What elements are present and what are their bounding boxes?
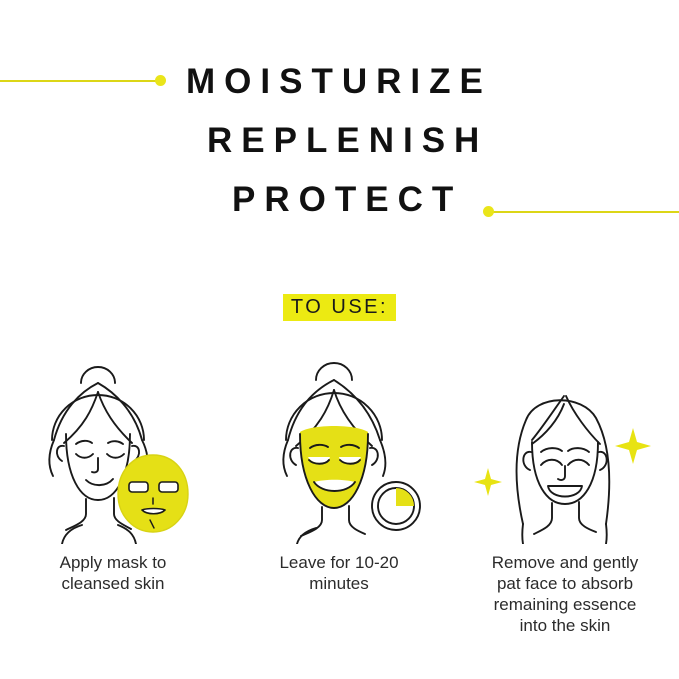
to-use-label: TO USE: [283,294,396,321]
step-1: Apply mask to cleansed skin [0,348,226,594]
woman-wearing-mask-with-timer-icon [244,348,434,544]
steps-row: Apply mask to cleansed skin [0,348,679,636]
headline-line-protect: PROTECT [232,170,679,229]
step-3: Remove and gently pat face to absorb rem… [452,348,678,636]
sparkle-left-icon [474,468,502,496]
step-3-caption: Remove and gently pat face to absorb rem… [473,552,658,636]
woman-holding-sheet-mask-icon [18,348,208,544]
headline-block: MOISTURIZE REPLENISH PROTECT [0,52,679,229]
smiling-woman-with-sparkles-icon [470,348,660,544]
headline-line-replenish: REPLENISH [207,111,679,170]
timer-icon [372,482,420,530]
sparkle-right-icon [615,428,651,464]
step-2: Leave for 10-20 minutes [226,348,452,594]
to-use-label-wrap: TO USE: [0,294,679,321]
headline-line-moisturize: MOISTURIZE [186,52,679,111]
sheet-mask-shape [118,455,188,532]
step-1-caption: Apply mask to cleansed skin [21,552,206,594]
step-2-caption: Leave for 10-20 minutes [247,552,432,594]
